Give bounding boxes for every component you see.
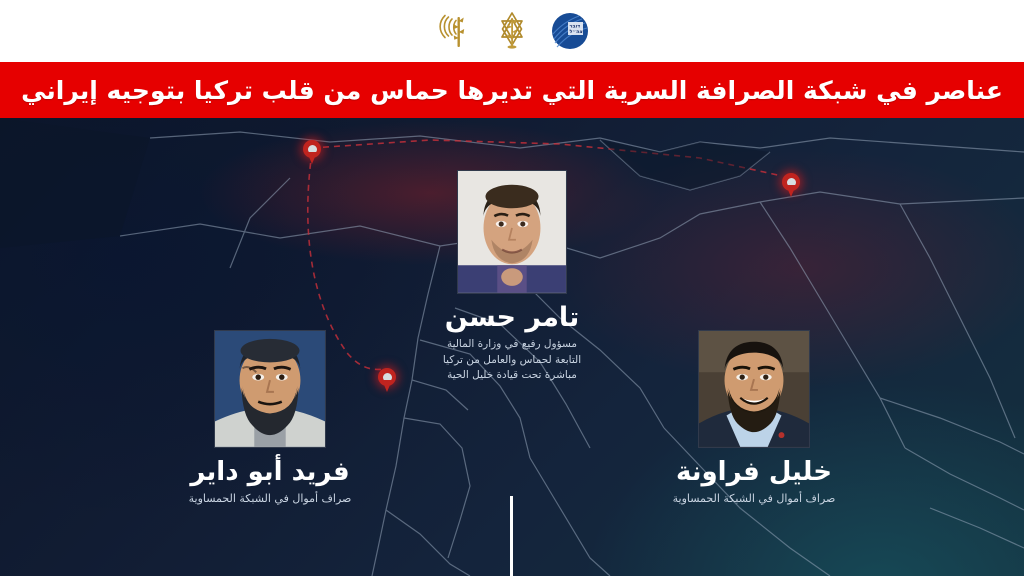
person-role-line: التابعة لحماس والعامل من تركيا	[382, 353, 642, 368]
headline-banner: عناصر في شبكة الصرافة السرية التي تديرها…	[0, 62, 1024, 118]
svg-text:צה״ל: צה״ל	[570, 29, 583, 35]
person-role-line: صراف أموال في الشبكة الحمساوية	[604, 491, 904, 507]
map-area: تامر حسن مسؤول رفيع في وزارة المالية الت…	[0, 118, 1024, 576]
person-role-line: مباشرة تحت قيادة خليل الحية	[382, 368, 642, 383]
map-pin-northwest[interactable]	[303, 140, 321, 164]
portrait-farid-abu-dayer	[215, 331, 325, 447]
pin-tail	[786, 185, 796, 197]
avatar	[698, 330, 810, 448]
logo-bar: דובר צה״ל	[0, 0, 1024, 62]
person-card-center: تامر حسن مسؤول رفيع في وزارة المالية الت…	[382, 170, 642, 383]
person-name: خليل فراونة	[670, 459, 838, 486]
pin-tail	[307, 152, 317, 164]
person-role: صراف أموال في الشبكة الحمساوية	[120, 491, 420, 507]
person-role: مسؤول رفيع في وزارة المالية التابعة لحما…	[382, 337, 642, 383]
person-role-line: مسؤول رفيع في وزارة المالية	[382, 337, 642, 352]
map-pin-east[interactable]	[782, 173, 800, 197]
idf-emblem-icon	[490, 9, 534, 53]
portrait-tamer-hassan	[458, 171, 566, 293]
person-card-right: خليل فراونة صراف أموال في الشبكة الحمساو…	[604, 330, 904, 507]
avatar	[214, 330, 326, 448]
person-name: تامر حسن	[439, 304, 585, 332]
connector-line-vertical	[510, 496, 513, 576]
person-role: صراف أموال في الشبكة الحمساوية	[604, 491, 904, 507]
person-card-left: فريد أبو داير صراف أموال في الشبكة الحمس…	[120, 330, 420, 507]
portrait-khalil-farawna	[699, 331, 809, 447]
person-role-line: صراف أموال في الشبكة الحمساوية	[120, 491, 420, 507]
headline-text: عناصر في شبكة الصرافة السرية التي تديرها…	[21, 76, 1003, 105]
spokesperson-unit-icon: דובר צה״ל	[548, 9, 592, 53]
broadcast-antenna-icon	[432, 9, 476, 53]
person-name: فريد أبو داير	[184, 459, 355, 486]
avatar	[457, 170, 567, 294]
